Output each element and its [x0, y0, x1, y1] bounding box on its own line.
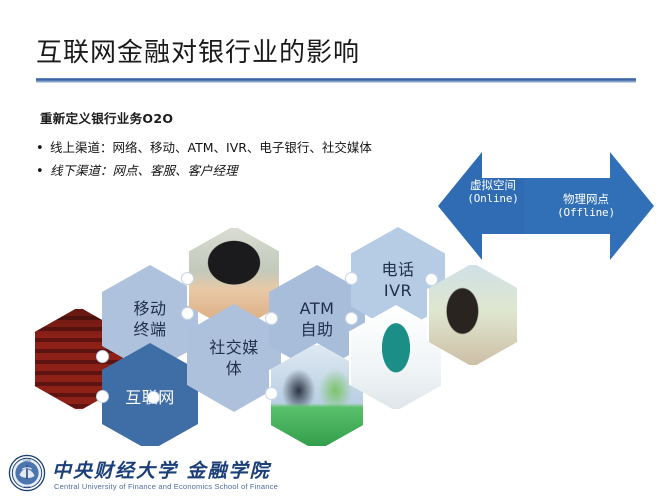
hex-connector-node	[96, 390, 109, 403]
hex-label-line-1: 社交媒	[209, 337, 259, 358]
hex-label-line-1: 电话	[381, 259, 414, 280]
hex-connector-node	[147, 391, 160, 404]
hex-connector-node	[265, 387, 278, 400]
svg-text:CUFE: CUFE	[23, 459, 31, 463]
hex-label-line-1: ATM	[300, 298, 335, 319]
hex-connector-node	[425, 273, 438, 286]
bullet-marker-icon: •	[36, 141, 50, 156]
hex-label-telephone-ivr: 电话 IVR	[381, 259, 414, 301]
bullet-item-online: •线上渠道：网络、移动、ATM、IVR、电子银行、社交媒体	[36, 137, 372, 156]
hex-label-mobile-terminal: 移动 终端	[133, 298, 166, 340]
hex-label-line-2: 自助	[300, 319, 335, 340]
cufe-emblem-logo-icon: CUFE 1949	[8, 454, 46, 492]
hex-connector-node	[345, 272, 358, 285]
bullet-marker-icon: •	[36, 164, 50, 179]
hex-label-line-2: 体	[209, 358, 259, 379]
page-title: 互联网金融对银行业的影响	[36, 36, 636, 70]
bullet-text-offline: 线下渠道：网点、客服、客户经理	[50, 160, 238, 179]
bullet-item-offline: •线下渠道：网点、客服、客户经理	[36, 160, 238, 179]
hex-connector-node	[265, 312, 278, 325]
hex-label-social-media: 社交媒 体	[209, 337, 259, 379]
hex-label-line-2: IVR	[381, 280, 414, 301]
slide-canvas: 互联网金融对银行业的影响 重新定义银行业务O2O •线上渠道：网络、移动、ATM…	[0, 0, 667, 500]
slide-footer: CUFE 1949 中央财经大学 金融学院 Central University…	[0, 446, 667, 500]
footer-institution-en: Central University of Finance and Econom…	[54, 482, 278, 491]
hex-connector-node	[96, 350, 109, 363]
title-divider-shadow	[36, 82, 636, 83]
hex-connector-node	[181, 272, 194, 285]
hex-label-line-1: 移动	[133, 298, 166, 319]
svg-text:1949: 1949	[24, 485, 31, 489]
subheading: 重新定义银行业务O2O	[40, 108, 173, 127]
title-block: 互联网金融对银行业的影响	[36, 36, 636, 70]
hex-label-atm: ATM 自助	[300, 298, 335, 340]
hex-connector-node	[181, 307, 194, 320]
honeycomb-diagram: 移动 终端 互联网 社交媒 体 ATM 自助	[0, 215, 560, 455]
hex-label-line-2: 终端	[133, 319, 166, 340]
hex-connector-node	[345, 312, 358, 325]
footer-institution-cn: 中央财经大学 金融学院	[52, 456, 271, 483]
bullet-text-online: 线上渠道：网络、移动、ATM、IVR、电子银行、社交媒体	[50, 137, 372, 156]
